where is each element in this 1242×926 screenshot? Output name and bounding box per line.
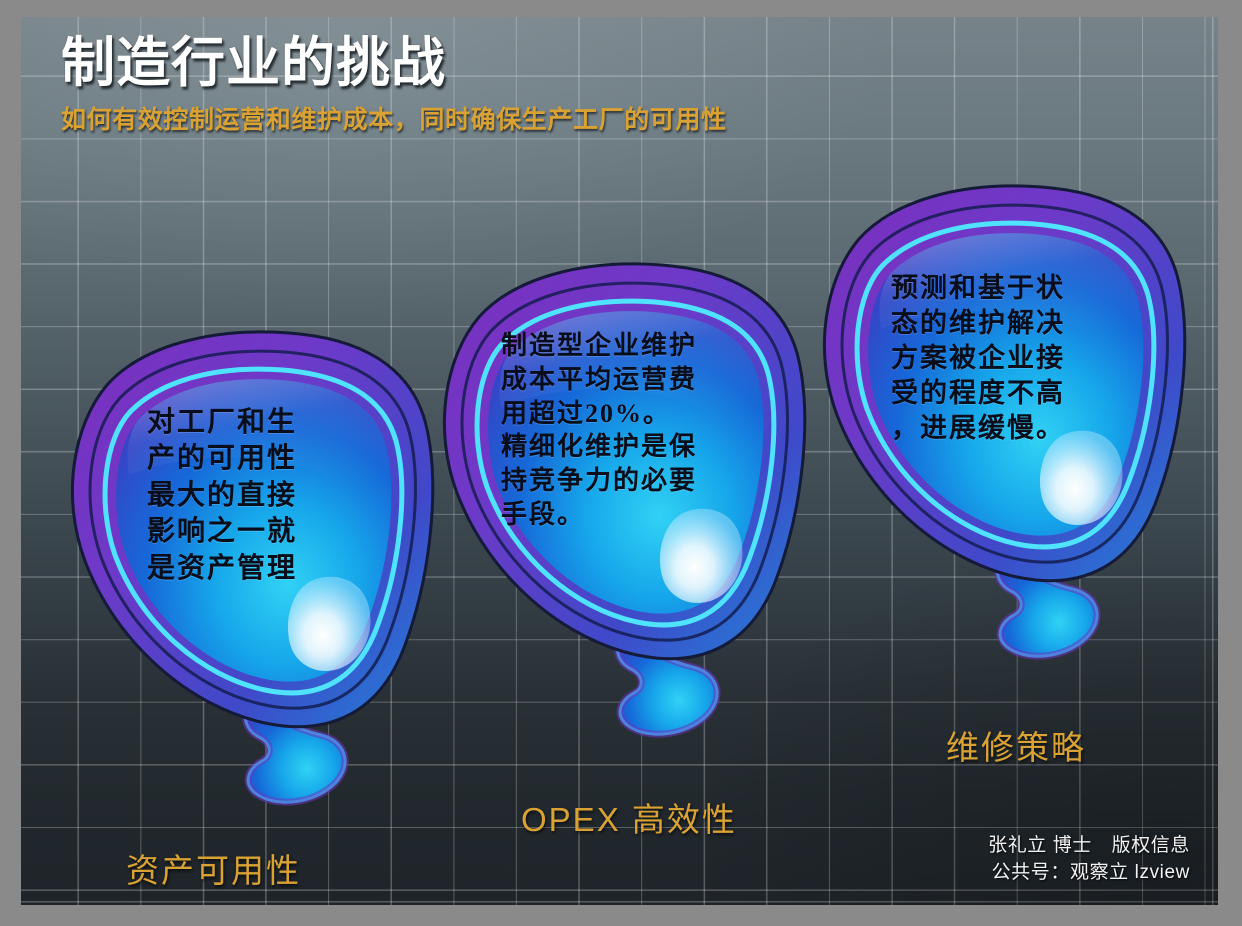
speech-bubble-maintenance-strategy[interactable]: 预测和基于状 态的维护解决 方案被企业接 受的程度不高 ，进展缓慢。 [811, 179, 1201, 679]
bubble-shape-3 [811, 179, 1201, 679]
bubble-caption-maintenance-strategy: 维修策略 [946, 721, 1086, 769]
slide-header: 制造行业的挑战 如何有效控制运营和维护成本，同时确保生产工厂的可用性 [61, 35, 727, 136]
bubble-caption-asset-availability: 资产可用性 [126, 844, 301, 892]
footer-line-account: 公共号：观察立 lzview [988, 859, 1190, 887]
footer-credit: 张礼立 博士 版权信息 公共号：观察立 lzview [988, 832, 1190, 887]
slide-canvas: 制造行业的挑战 如何有效控制运营和维护成本，同时确保生产工厂的可用性 [21, 17, 1218, 905]
bubble-shape-1 [59, 325, 449, 825]
page-subtitle: 如何有效控制运营和维护成本，同时确保生产工厂的可用性 [61, 100, 727, 136]
bubble-shape-2 [431, 257, 821, 757]
page-title: 制造行业的挑战 [61, 35, 727, 92]
speech-bubble-opex-efficiency[interactable]: 制造型企业维护 成本平均运营费 用超过20%。 精细化维护是保 持竞争力的必要 … [431, 257, 821, 757]
bubble-caption-opex-efficiency: OPEX 高效性 [521, 793, 737, 841]
speech-bubble-asset-availability[interactable]: 对工厂和生 产的可用性 最大的直接 影响之一就 是资产管理 [59, 325, 449, 825]
footer-line-author: 张礼立 博士 版权信息 [988, 832, 1190, 860]
slide-frame: 制造行业的挑战 如何有效控制运营和维护成本，同时确保生产工厂的可用性 [0, 0, 1242, 926]
